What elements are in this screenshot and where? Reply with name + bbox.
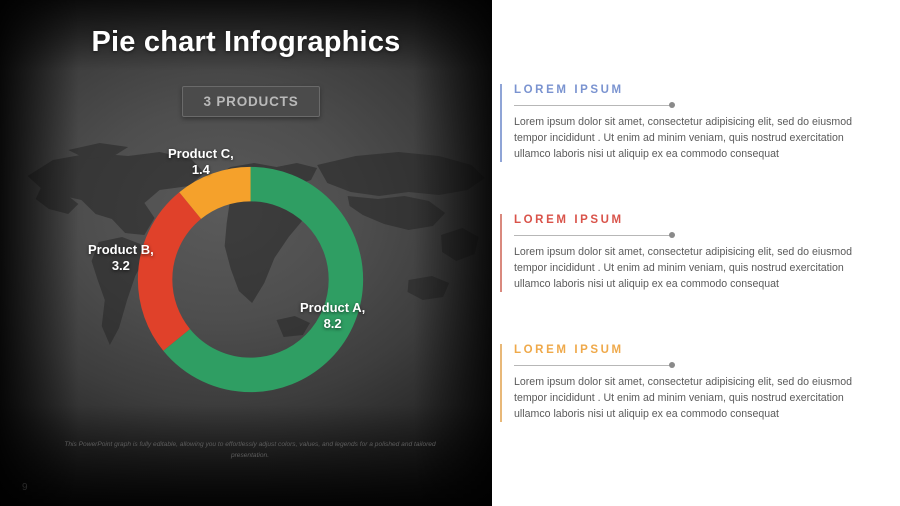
rule-dot-icon xyxy=(669,362,675,368)
detail-block-3-heading: LOREM IPSUM xyxy=(514,344,870,356)
detail-block-3-body: Lorem ipsum dolor sit amet, consectetur … xyxy=(514,374,870,422)
detail-block-2: LOREM IPSUM Lorem ipsum dolor sit amet, … xyxy=(500,214,870,292)
page-number: 9 xyxy=(22,482,28,493)
detail-block-1: LOREM IPSUM Lorem ipsum dolor sit amet, … xyxy=(500,84,870,162)
detail-block-2-body: Lorem ipsum dolor sit amet, consectetur … xyxy=(514,244,870,292)
donut-label-product-c-name: Product C, xyxy=(168,146,234,162)
donut-label-product-a-name: Product A, xyxy=(300,300,365,316)
details-panel: LOREM IPSUM Lorem ipsum dolor sit amet, … xyxy=(492,0,900,506)
donut-label-product-c-value: 1.4 xyxy=(168,162,234,178)
rule-dot-icon xyxy=(669,102,675,108)
rule-line xyxy=(514,105,672,106)
detail-block-3-rule xyxy=(514,361,870,370)
chart-panel: Pie chart Infographics 3 PRODUCTS Produc… xyxy=(0,0,492,506)
donut-label-product-a-value: 8.2 xyxy=(300,316,365,332)
detail-block-1-heading: LOREM IPSUM xyxy=(514,84,870,96)
slide-canvas: Pie chart Infographics 3 PRODUCTS Produc… xyxy=(0,0,900,506)
detail-block-3: LOREM IPSUM Lorem ipsum dolor sit amet, … xyxy=(500,344,870,422)
donut-label-product-b-value: 3.2 xyxy=(88,258,154,274)
rule-dot-icon xyxy=(669,232,675,238)
footnote-text: This PowerPoint graph is fully editable,… xyxy=(52,440,448,462)
donut-label-product-a: Product A, 8.2 xyxy=(300,300,365,333)
detail-block-1-rule xyxy=(514,101,870,110)
rule-line xyxy=(514,365,672,366)
detail-block-2-heading: LOREM IPSUM xyxy=(514,214,870,226)
donut-label-product-b: Product B, 3.2 xyxy=(88,242,154,275)
detail-block-2-rule xyxy=(514,231,870,240)
detail-block-1-body: Lorem ipsum dolor sit amet, consectetur … xyxy=(514,114,870,162)
donut-chart xyxy=(118,147,383,412)
donut-label-product-c: Product C, 1.4 xyxy=(168,146,234,179)
rule-line xyxy=(514,235,672,236)
page-title: Pie chart Infographics xyxy=(0,26,492,59)
product-count-badge: 3 PRODUCTS xyxy=(182,86,320,117)
donut-label-product-b-name: Product B, xyxy=(88,242,154,258)
